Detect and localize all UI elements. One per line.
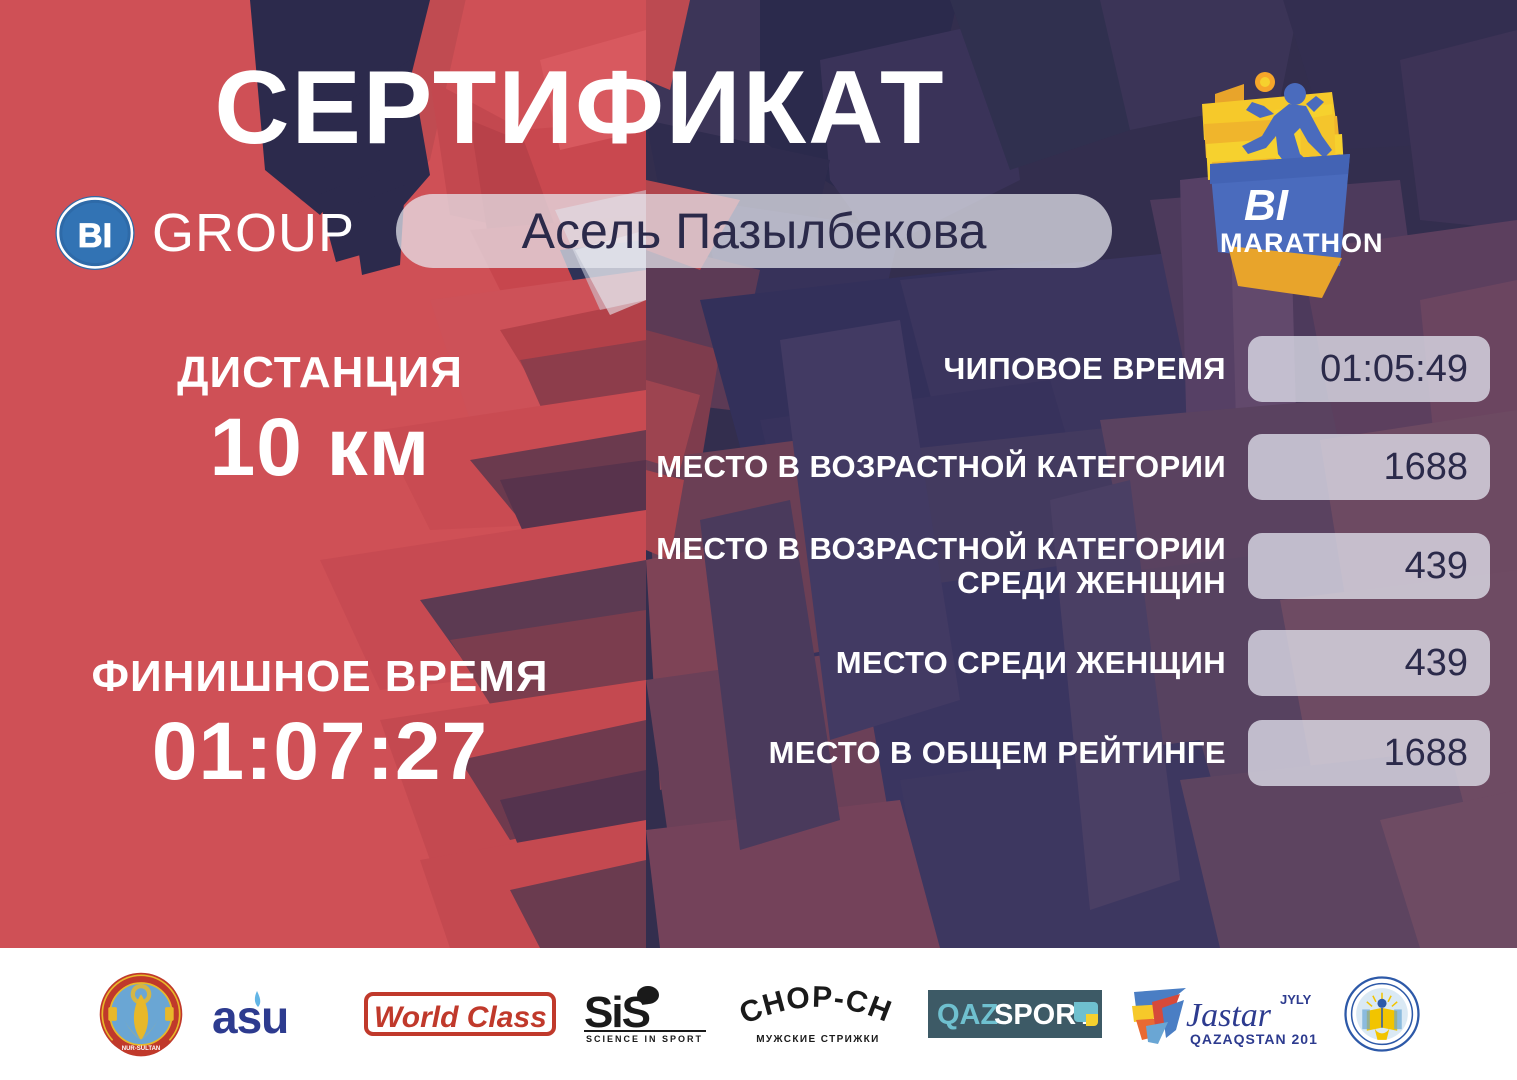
row-value: 1688 — [1383, 734, 1468, 772]
qazsport-logo-icon: QAZ SPORT — [928, 990, 1102, 1038]
bi-group-label: GROUP — [152, 206, 355, 260]
sponsor-bar: NUR-SULTAN asu World Class SiS SCIENCE I… — [0, 948, 1517, 1080]
row-value: 1688 — [1383, 448, 1468, 486]
bi-group-logo: BI GROUP — [52, 190, 355, 276]
bi-badge-icon: BI — [52, 190, 138, 276]
world-class-wordmark: World Class — [374, 1001, 547, 1034]
ministry-emblem-icon — [1344, 976, 1420, 1052]
row-value-pill: 439 — [1248, 630, 1490, 696]
row-label: МЕСТО В ВОЗРАСТНОЙ КАТЕГОРИИ — [630, 450, 1248, 484]
chop-chop-tagline: МУЖСКИЕ СТРИЖКИ — [756, 1034, 880, 1045]
sponsor-nur-sultan: NUR-SULTAN — [98, 971, 184, 1057]
finish-time-label: ФИНИШНОЕ ВРЕМЯ — [40, 652, 600, 701]
participant-name-pill: Асель Пазылбекова — [396, 194, 1112, 268]
row-label: МЕСТО СРЕДИ ЖЕНЩИН — [630, 646, 1248, 680]
svg-text:BI: BI — [78, 217, 112, 255]
distance-label: ДИСТАНЦИЯ — [40, 348, 600, 397]
jastar-jyly-logo-icon: Jastar JYLY QAZAQSTAN 2019 — [1128, 978, 1318, 1050]
distance-block: ДИСТАНЦИЯ 10 км — [40, 348, 600, 496]
marathon-brand-text: BI — [1244, 181, 1289, 230]
sponsor-chop-chop: CHOP-CHOP МУЖСКИЕ СТРИЖКИ — [734, 982, 902, 1046]
row-value-pill: 439 — [1248, 533, 1490, 599]
asu-logo-icon: asu — [210, 983, 338, 1045]
table-row: МЕСТО В ВОЗРАСТНОЙ КАТЕГОРИИ СРЕДИ ЖЕНЩИ… — [630, 532, 1490, 600]
sis-logo-icon: SiS SCIENCE IN SPORT — [582, 983, 708, 1045]
row-value: 439 — [1405, 644, 1468, 682]
chop-chop-wordmark: CHOP-CHOP — [734, 982, 896, 1031]
sponsor-ministry — [1344, 976, 1420, 1052]
sis-wordmark: SiS — [584, 988, 650, 1037]
jastar-wordmark: Jastar — [1186, 997, 1272, 1034]
sponsor-qazsport: QAZ SPORT — [928, 990, 1102, 1038]
distance-value: 10 км — [40, 401, 600, 495]
sponsor-world-class: World Class — [364, 986, 556, 1042]
jyly-text: JYLY — [1280, 992, 1312, 1007]
row-value: 01:05:49 — [1320, 350, 1468, 388]
certificate: СЕРТИФИКАТ BI GROUP Асель Пазылбекова — [0, 0, 1517, 1080]
table-row: МЕСТО В ВОЗРАСТНОЙ КАТЕГОРИИ 1688 — [630, 434, 1490, 500]
jastar-country-year: QAZAQSTAN 2019 — [1190, 1031, 1318, 1047]
table-row: МЕСТО В ОБЩЕМ РЕЙТИНГЕ 1688 — [630, 720, 1490, 786]
row-label: ЧИПОВОЕ ВРЕМЯ — [630, 352, 1248, 386]
row-value: 439 — [1405, 547, 1468, 585]
results-table: ЧИПОВОЕ ВРЕМЯ 01:05:49 МЕСТО В ВОЗРАСТНО… — [630, 336, 1490, 802]
nur-sultan-emblem-icon: NUR-SULTAN — [98, 971, 184, 1057]
row-value-pill: 01:05:49 — [1248, 336, 1490, 402]
finish-time-value: 01:07:27 — [40, 705, 600, 799]
finish-time-block: ФИНИШНОЕ ВРЕМЯ 01:07:27 — [40, 652, 600, 800]
row-label: МЕСТО В ВОЗРАСТНОЙ КАТЕГОРИИ СРЕДИ ЖЕНЩИ… — [630, 532, 1248, 600]
row-value-pill: 1688 — [1248, 720, 1490, 786]
participant-name: Асель Пазылбекова — [522, 206, 987, 256]
sponsor-jastar-jyly: Jastar JYLY QAZAQSTAN 2019 — [1128, 978, 1318, 1050]
bi-marathon-logo: BI MARATHON — [1182, 62, 1382, 302]
chop-chop-logo-icon: CHOP-CHOP МУЖСКИЕ СТРИЖКИ — [734, 982, 902, 1046]
row-label: МЕСТО В ОБЩЕМ РЕЙТИНГЕ — [630, 736, 1248, 770]
sis-tagline: SCIENCE IN SPORT — [586, 1034, 703, 1044]
table-row: МЕСТО СРЕДИ ЖЕНЩИН 439 — [630, 630, 1490, 696]
table-row: ЧИПОВОЕ ВРЕМЯ 01:05:49 — [630, 336, 1490, 402]
qazsport-qaz-text: QAZ — [937, 999, 998, 1031]
nur-sultan-label: NUR-SULTAN — [121, 1046, 160, 1052]
sponsor-sis: SiS SCIENCE IN SPORT — [582, 983, 708, 1045]
sponsor-asu: asu — [210, 983, 338, 1045]
page-title: СЕРТИФИКАТ — [0, 56, 1160, 160]
row-value-pill: 1688 — [1248, 434, 1490, 500]
marathon-subtitle-text: MARATHON — [1220, 228, 1382, 258]
world-class-logo-icon: World Class — [364, 986, 556, 1042]
asu-wordmark: asu — [212, 991, 288, 1043]
